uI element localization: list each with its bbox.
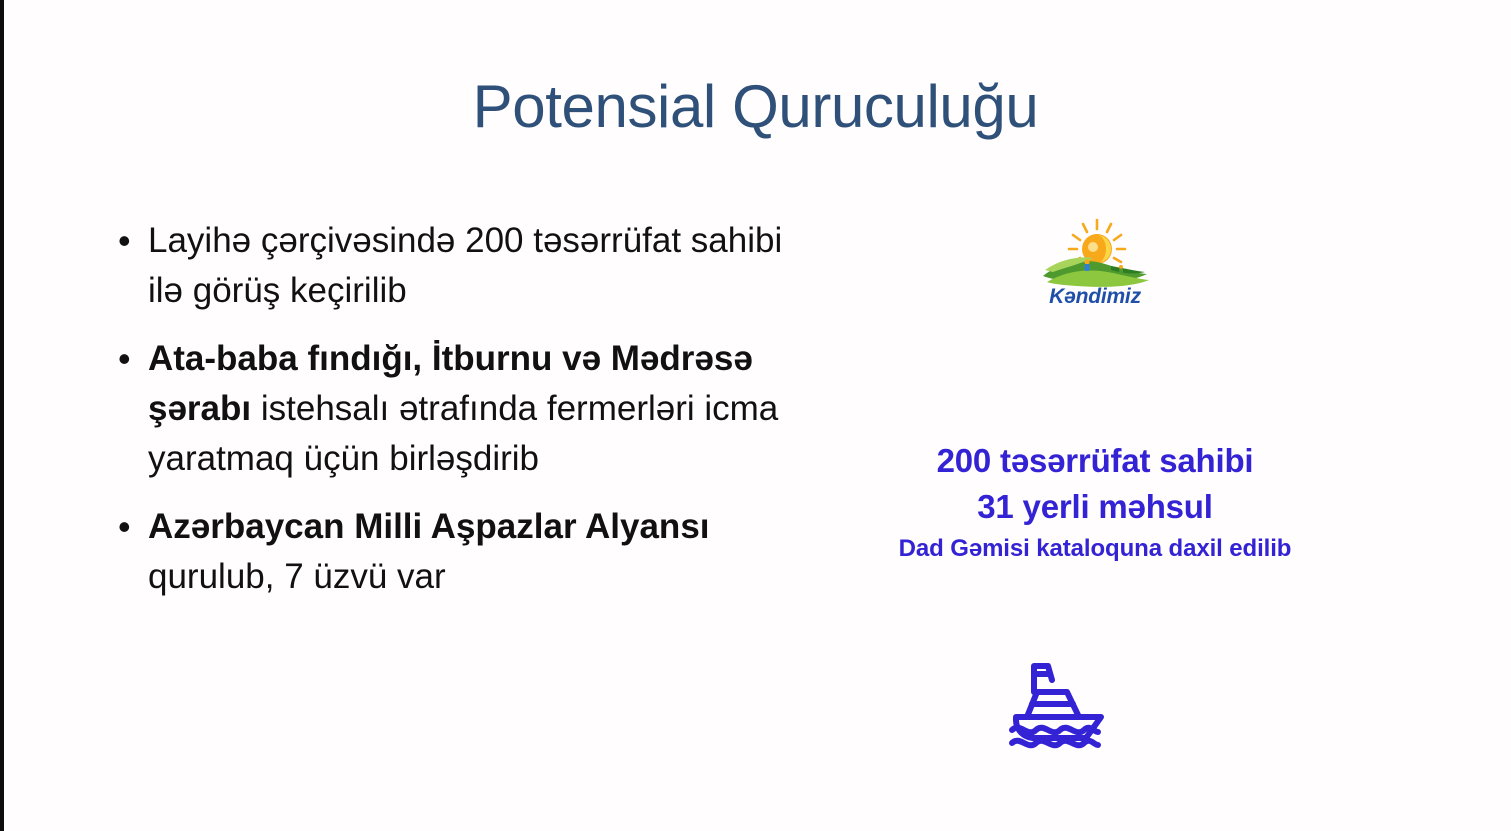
slide-canvas: Potensial Quruculuğu • Layihə çərçivəsin…	[0, 0, 1511, 831]
right-column: Kəndimiz 200 təsərrüfat sahibi 31 yerli …	[845, 216, 1345, 763]
list-item: • Layihə çərçivəsində 200 təsərrüfat sah…	[118, 216, 808, 316]
bullet-segment-regular: Layihə çərçivəsində 200 təsərrüfat sahib…	[148, 221, 782, 310]
stats-block: 200 təsərrüfat sahibi 31 yerli məhsul Da…	[845, 438, 1345, 568]
list-item: • Azərbaycan Milli Aşpazlar Alyansı quru…	[118, 502, 808, 602]
bullet-text: Ata-baba fındığı, İtburnu və Mədrəsə şər…	[148, 334, 808, 484]
kendimiz-logo: Kəndimiz	[1025, 216, 1165, 320]
bullet-marker-icon: •	[118, 334, 148, 384]
kendimiz-wordmark: Kəndimiz	[1025, 286, 1165, 307]
list-item: • Ata-baba fındığı, İtburnu və Mədrəsə ş…	[118, 334, 808, 484]
bullet-text: Layihə çərçivəsində 200 təsərrüfat sahib…	[148, 216, 808, 316]
bullet-list: • Layihə çərçivəsində 200 təsərrüfat sah…	[118, 216, 808, 620]
bullet-segment-bold: Azərbaycan Milli Aşpazlar Alyansı	[148, 507, 710, 546]
stat-local-products: 31 yerli məhsul	[845, 484, 1345, 530]
cruise-ship-icon	[990, 654, 1140, 758]
bullet-marker-icon: •	[118, 502, 148, 552]
kendimiz-sun-field-icon	[1035, 216, 1155, 288]
bullet-segment-regular: qurulub, 7 üzvü var	[148, 557, 446, 596]
page-title: Potensial Quruculuğu	[0, 72, 1511, 141]
stat-catalog-note: Dad Gəmisi kataloquna daxil edilib	[845, 530, 1345, 568]
ship-icon-wrap	[785, 654, 1345, 763]
stat-farm-owners: 200 təsərrüfat sahibi	[845, 438, 1345, 484]
bullet-marker-icon: •	[118, 216, 148, 266]
bullet-text: Azərbaycan Milli Aşpazlar Alyansı qurulu…	[148, 502, 808, 602]
